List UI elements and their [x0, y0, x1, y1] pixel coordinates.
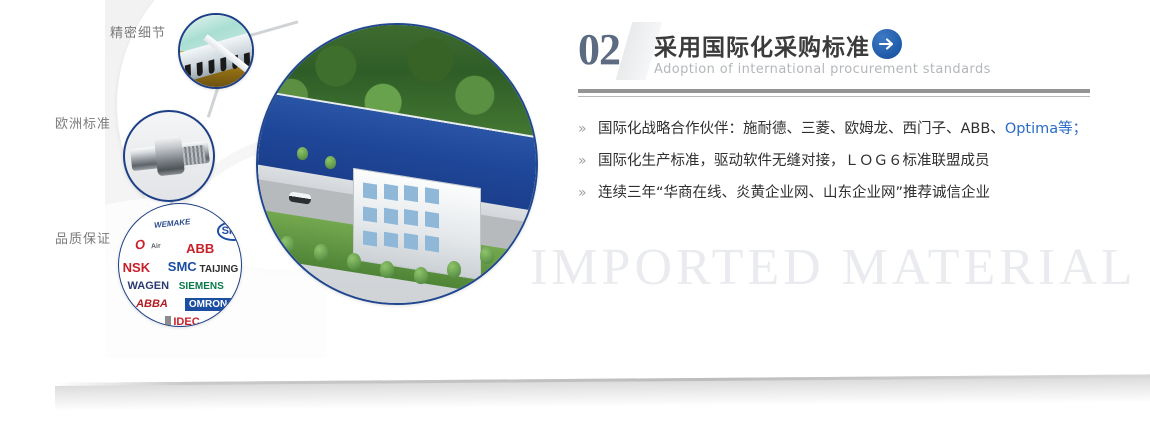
gear-closeup-photo — [178, 13, 254, 89]
bullet-text-1-after: ； — [1073, 121, 1088, 137]
brand-logo-cluster: WEMAKESKOOAirABBNSKSMCTAIJINGWAGENSIEMEN… — [119, 204, 241, 326]
section-title-cn: 采用国际化采购标准 — [654, 28, 870, 62]
brand-logo-siemens: SIEMENS — [179, 281, 224, 292]
section-number: 02 — [578, 24, 620, 75]
list-item: » 连续三年“华商在线、炎黄企业网、山东企业网”推荐诚信企业 — [578, 182, 1098, 214]
header-divider-thin — [578, 96, 1090, 97]
brand-logo-wagen: WAGEN — [128, 280, 170, 292]
label-european-standard: 欧洲标准 — [55, 113, 111, 132]
brand-logos-photo: WEMAKESKOOAirABBNSKSMCTAIJINGWAGENSIEMEN… — [118, 203, 242, 327]
brand-logo-taijing: TAIJING — [200, 264, 239, 275]
bullet-text-1: 国际化战略合作伙伴：施耐德、三菱、欧姆龙、西门子、ABB、Optima等； — [598, 118, 1087, 140]
ball-screw-nut — [154, 136, 185, 177]
right-content-column: 02 采用国际化采购标准 Adoption of international p… — [578, 0, 1098, 430]
ball-screw-photo — [123, 110, 215, 202]
section-title-en: Adoption of international procurement st… — [654, 62, 991, 77]
brand-logo-o: O — [134, 236, 146, 252]
brand-logo-abb: ABB — [186, 241, 214, 256]
brand-logo-nsk: NSK — [123, 260, 150, 275]
arrow-right-circle-icon[interactable] — [872, 29, 902, 59]
ball-screw-thread — [182, 145, 206, 165]
list-item: » 国际化战略合作伙伴：施耐德、三菱、欧姆龙、西门子、ABB、Optima等； — [578, 118, 1098, 150]
bullet-text-2: 国际化生产标准，驱动软件无缝对接，ＬＯＧ６标准联盟成员 — [598, 150, 990, 172]
bullet-list: » 国际化战略合作伙伴：施耐德、三菱、欧姆龙、西门子、ABB、Optima等； … — [578, 118, 1098, 214]
factory-building-photo — [256, 23, 538, 305]
brand-logo-omron: OMRON — [185, 298, 231, 311]
label-quality-assurance: 品质保证 — [55, 228, 111, 247]
brand-logo-abba: ABBA — [136, 298, 168, 310]
page-stage: 精密细节 欧洲标准 品质保证 WEMAKESKOOAirABBNSKSMCTAI… — [0, 0, 1150, 430]
brand-logo-air: Air — [150, 243, 160, 251]
header-divider-thick — [578, 89, 1090, 93]
brand-logo-wemake: WEMAKE — [154, 217, 191, 230]
bullet-text-1-accent: Optima等 — [1005, 121, 1073, 137]
bullet-text-1-before: 国际化战略合作伙伴：施耐德、三菱、欧姆龙、西门子、ABB、 — [598, 121, 1005, 137]
label-precision-detail: 精密细节 — [110, 22, 166, 41]
brand-logo-idec: IDEC — [165, 316, 199, 327]
list-item: » 国际化生产标准，驱动软件无缝对接，ＬＯＧ６标准联盟成员 — [578, 150, 1098, 182]
brand-logo-sko: SKO — [217, 221, 242, 241]
chevron-double-right-icon: » — [578, 182, 598, 204]
brand-logo-smc: SMC — [168, 259, 197, 274]
chevron-double-right-icon: » — [578, 150, 598, 172]
bullet-text-3: 连续三年“华商在线、炎黄企业网、山东企业网”推荐诚信企业 — [598, 182, 990, 204]
chevron-double-right-icon: » — [578, 118, 598, 140]
